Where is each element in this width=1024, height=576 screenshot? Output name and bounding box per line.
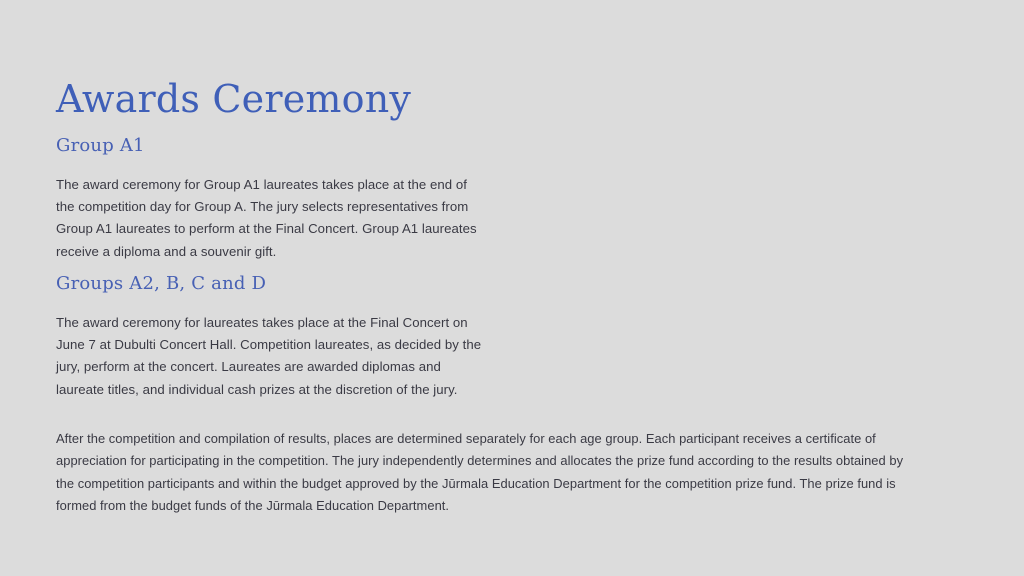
text-line: the competition participants and within … [56,473,986,495]
section-heading-groups-a2-b-c-d: Groups A2, B, C and D [56,272,526,296]
text-line: jury, perform at the concert. Laureates … [56,356,526,378]
section-body-closing-note: After the competition and compilation of… [56,428,986,518]
section-groups-a2-b-c-d: Groups A2, B, C and D The award ceremony… [56,272,526,401]
section-body-group-a1: The award ceremony for Group A1 laureate… [56,174,516,263]
text-line: formed from the budget funds of the Jūrm… [56,495,986,517]
text-line: receive a diploma and a souvenir gift. [56,241,516,263]
text-line: The award ceremony for laureates takes p… [56,312,526,334]
text-line: The award ceremony for Group A1 laureate… [56,174,516,196]
text-line: After the competition and compilation of… [56,428,986,450]
text-line: June 7 at Dubulti Concert Hall. Competit… [56,334,526,356]
page-title: Awards Ceremony [56,75,411,123]
section-heading-group-a1: Group A1 [56,134,516,158]
section-closing-note: After the competition and compilation of… [56,428,986,518]
text-line: laureate titles, and individual cash pri… [56,379,526,401]
section-group-a1: Group A1 The award ceremony for Group A1… [56,134,516,263]
slide-canvas: Awards Ceremony Group A1 The award cerem… [0,0,1024,576]
section-body-groups-a2-b-c-d: The award ceremony for laureates takes p… [56,312,526,401]
text-line: appreciation for participating in the co… [56,450,986,472]
text-line: Group A1 laureates to perform at the Fin… [56,218,516,240]
text-line: the competition day for Group A. The jur… [56,196,516,218]
